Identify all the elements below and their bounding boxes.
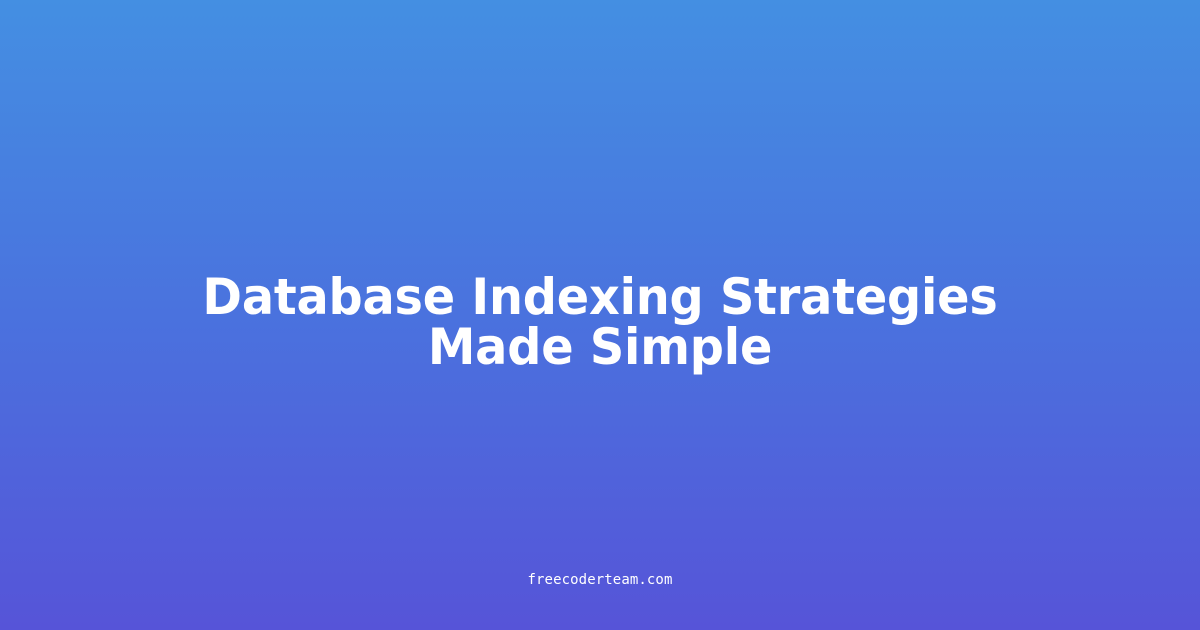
footer-block: freecoderteam.com bbox=[0, 571, 1200, 589]
site-domain-label: freecoderteam.com bbox=[528, 571, 673, 589]
page-title: Database Indexing Strategies Made Simple bbox=[180, 272, 1020, 372]
social-share-card: Database Indexing Strategies Made Simple… bbox=[0, 0, 1200, 630]
title-block: Database Indexing Strategies Made Simple bbox=[160, 272, 1040, 372]
